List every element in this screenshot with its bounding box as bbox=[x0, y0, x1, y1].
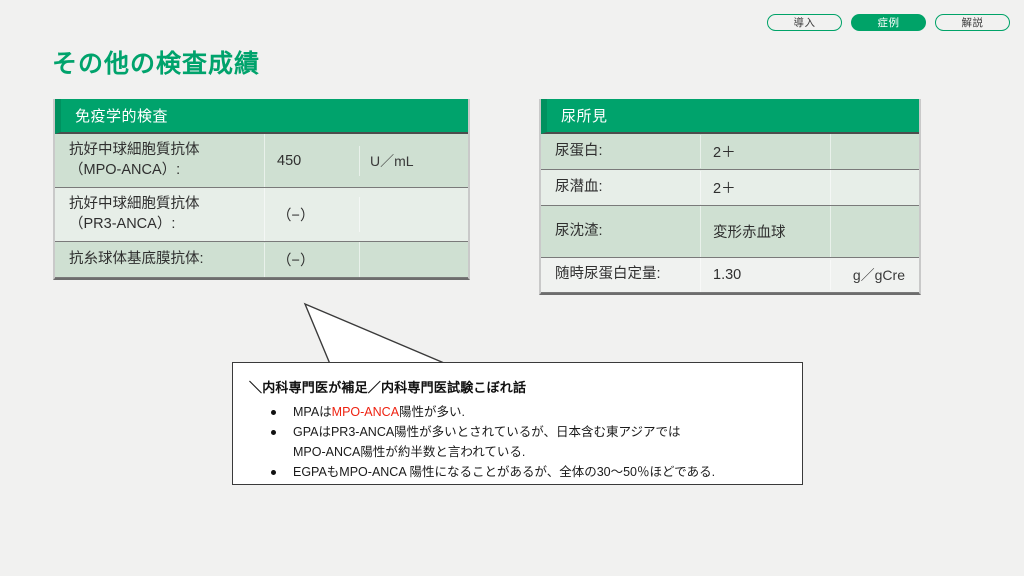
immunology-table: 免疫学的検査 抗好中球細胞質抗体 （MPO-ANCA）: 450 U／mL 抗好… bbox=[53, 99, 470, 280]
callout-box: ＼内科専門医が補足／内科専門医試験こぼれ話 MPAはMPO-ANCA陽性が多い.… bbox=[232, 362, 803, 485]
list-item: GPAはPR3-ANCA陽性が多いとされているが、日本含む東アジアではMPO-A… bbox=[249, 423, 786, 462]
row-value: （−） bbox=[265, 242, 360, 277]
list-item-pre: EGPAもMPO-ANCA 陽性になることがあるが、全体の30〜50％ほどである… bbox=[293, 465, 715, 479]
immunology-table-header: 免疫学的検査 bbox=[55, 99, 468, 134]
row-label: 尿潜血: bbox=[541, 171, 701, 205]
list-item-pre: MPAは bbox=[293, 405, 332, 419]
list-item-pre: GPAはPR3-ANCA陽性が多いとされているが、日本含む東アジアでは bbox=[293, 425, 681, 439]
callout-title: ＼内科専門医が補足／内科専門医試験こぼれ話 bbox=[249, 377, 786, 396]
bullet-icon bbox=[271, 470, 276, 475]
bullet-icon bbox=[271, 430, 276, 435]
table-row: 抗糸球体基底膜抗体: （−） bbox=[55, 242, 468, 278]
list-item-post: 陽性が多い. bbox=[399, 405, 465, 419]
row-label: 尿蛋白: bbox=[541, 135, 701, 169]
page-title: その他の検査成績 bbox=[52, 44, 260, 80]
row-label-line1: 抗好中球細胞質抗体 bbox=[69, 142, 200, 158]
table-row: 尿潜血: 2＋ bbox=[541, 170, 919, 206]
list-item: MPAはMPO-ANCA陽性が多い. bbox=[249, 403, 786, 422]
row-value: 変形赤血球 bbox=[701, 206, 831, 257]
row-label: 抗好中球細胞質抗体 （PR3-ANCA）: bbox=[55, 188, 265, 241]
row-unit bbox=[831, 181, 919, 195]
row-unit: U／mL bbox=[360, 144, 468, 178]
row-value: 450 bbox=[265, 146, 360, 176]
row-unit bbox=[831, 206, 919, 257]
row-unit bbox=[360, 208, 468, 222]
tab-intro[interactable]: 導入 bbox=[767, 14, 842, 31]
table-row: 抗好中球細胞質抗体 （PR3-ANCA）: （−） bbox=[55, 188, 468, 242]
tab-explanation[interactable]: 解説 bbox=[935, 14, 1010, 31]
list-item-highlight: MPO-ANCA bbox=[332, 405, 399, 419]
section-tabs[interactable]: 導入 症例 解説 bbox=[767, 14, 1010, 31]
row-label-line1: 抗好中球細胞質抗体 bbox=[69, 196, 200, 212]
list-item: EGPAもMPO-ANCA 陽性になることがあるが、全体の30〜50％ほどである… bbox=[249, 463, 786, 482]
list-item-post: MPO-ANCA陽性が約半数と言われている. bbox=[293, 445, 525, 459]
row-unit bbox=[360, 253, 468, 267]
tab-case[interactable]: 症例 bbox=[851, 14, 926, 31]
table-row: 抗好中球細胞質抗体 （MPO-ANCA）: 450 U／mL bbox=[55, 134, 468, 188]
urinalysis-table-header: 尿所見 bbox=[541, 99, 919, 134]
row-value: 2＋ bbox=[701, 170, 831, 205]
row-unit: g／gCre bbox=[831, 258, 919, 292]
table-row: 尿蛋白: 2＋ bbox=[541, 134, 919, 170]
row-value: （−） bbox=[265, 197, 360, 232]
row-label: 尿沈渣: bbox=[541, 206, 701, 257]
table-row: 随時尿蛋白定量: 1.30 g／gCre bbox=[541, 258, 919, 293]
urinalysis-table: 尿所見 尿蛋白: 2＋ 尿潜血: 2＋ 尿沈渣: 変形赤血球 随時尿蛋白定量: … bbox=[539, 99, 921, 295]
row-value: 2＋ bbox=[701, 134, 831, 169]
row-label-line2: （PR3-ANCA）: bbox=[69, 216, 175, 232]
row-label-line2: （MPO-ANCA）: bbox=[69, 162, 180, 178]
row-unit bbox=[831, 145, 919, 159]
row-value: 1.30 bbox=[701, 260, 831, 290]
row-label: 抗糸球体基底膜抗体: bbox=[55, 243, 265, 277]
bullet-icon bbox=[271, 410, 276, 415]
callout-list: MPAはMPO-ANCA陽性が多い. GPAはPR3-ANCA陽性が多いとされて… bbox=[249, 403, 786, 483]
row-label: 随時尿蛋白定量: bbox=[541, 258, 701, 292]
row-label: 抗好中球細胞質抗体 （MPO-ANCA）: bbox=[55, 134, 265, 187]
table-row: 尿沈渣: 変形赤血球 bbox=[541, 206, 919, 258]
